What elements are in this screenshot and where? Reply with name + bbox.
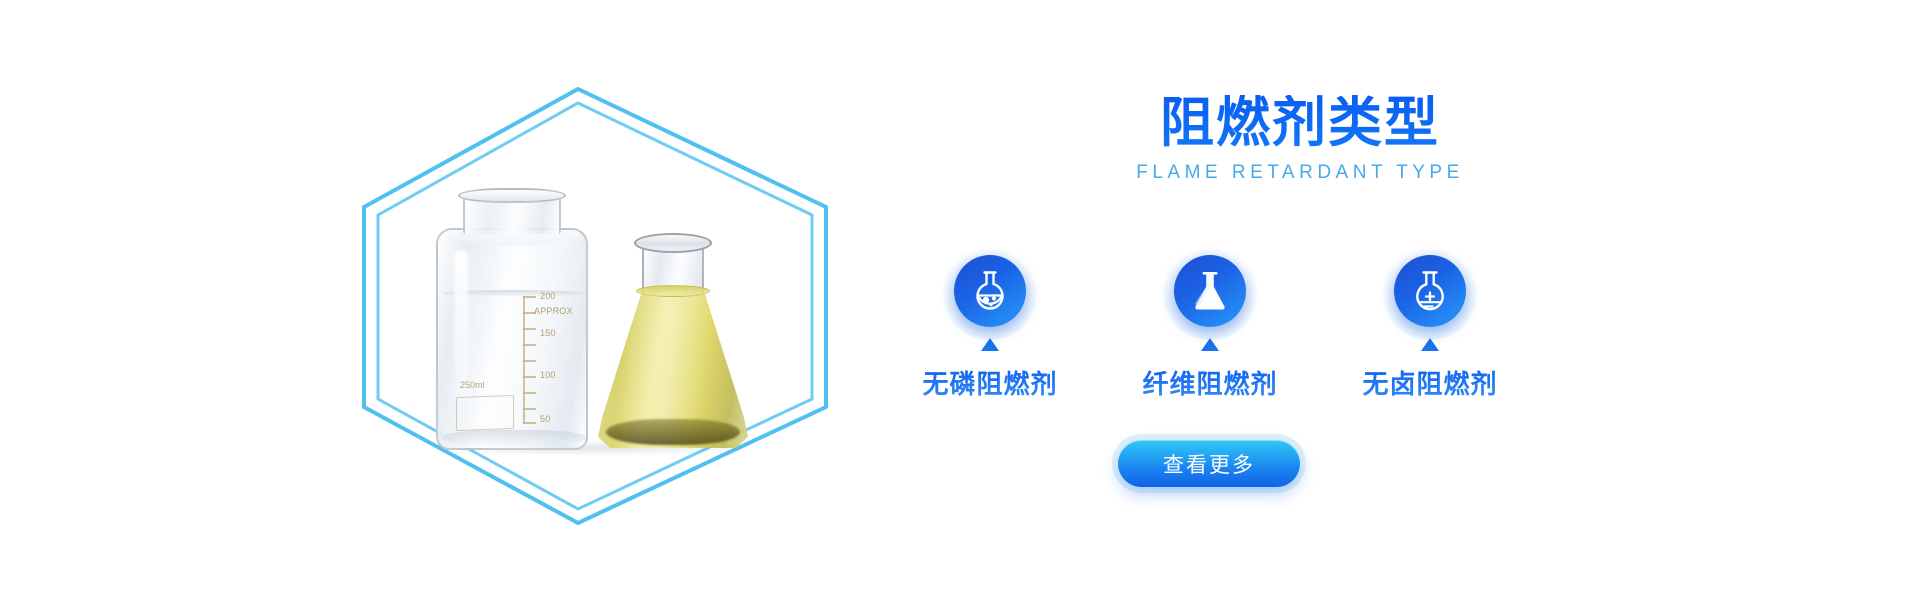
bottle-volume-text: 250ml [460, 380, 485, 390]
flask-lip [634, 233, 712, 253]
category-list: 无磷阻燃剂 纤维阻燃剂 [900, 255, 1520, 401]
graduation-label-50: 50 [540, 414, 550, 424]
page-title: 阻燃剂类型 [1040, 95, 1560, 152]
category-icon-wrap-2[interactable] [1174, 255, 1246, 327]
category-item-2[interactable]: 纤维阻燃剂 [1120, 255, 1300, 401]
bottle-graduation-scale [523, 296, 525, 424]
erlenmeyer-flask-photo [598, 233, 748, 448]
category-label-1: 无磷阻燃剂 [922, 364, 1057, 401]
bottle-base-shadow [441, 430, 587, 446]
view-more-button[interactable]: 查看更多 [1118, 440, 1300, 487]
category-label-3: 无卤阻燃剂 [1362, 364, 1497, 401]
flask-bottom-shadow [606, 419, 740, 445]
icon-circle-1[interactable] [954, 255, 1026, 327]
reagent-bottle: 200 APPROX 150 100 50 250ml [436, 192, 588, 450]
icon-circle-3[interactable] [1394, 255, 1466, 327]
cta-wrap: 查看更多 [1118, 440, 1300, 487]
category-icon-wrap-3[interactable] [1394, 255, 1466, 327]
page-subtitle: FLAME RETARDANT TYPE [1040, 162, 1560, 184]
round-flask-bubbles-icon [970, 269, 1010, 313]
product-photo: 200 APPROX 150 100 50 250ml [390, 150, 790, 450]
graduation-label-100: 100 [540, 370, 556, 380]
graduation-label-200: 200 [540, 291, 556, 301]
category-label-2: 纤维阻燃剂 [1142, 364, 1277, 401]
bottle-body: 200 APPROX 150 100 50 250ml [436, 228, 588, 450]
bottle-lip [458, 188, 566, 203]
category-icon-wrap-1[interactable] [954, 255, 1026, 327]
heading-block: 阻燃剂类型 FLAME RETARDANT TYPE [1040, 95, 1560, 184]
hero-visual: 200 APPROX 150 100 50 250ml [330, 55, 850, 545]
category-item-1[interactable]: 无磷阻燃剂 [900, 255, 1080, 401]
graduation-label-approx: APPROX [534, 306, 573, 316]
flame-retardant-banner: 200 APPROX 150 100 50 250ml [0, 0, 1920, 600]
bottle-blank-label [456, 395, 514, 431]
erlenmeyer-flask-filled-icon [1190, 269, 1230, 313]
icon-circle-2[interactable] [1174, 255, 1246, 327]
category-item-3[interactable]: 无卤阻燃剂 [1340, 255, 1520, 401]
flask-liquid-surface [636, 285, 710, 297]
bottle-highlight [454, 250, 468, 400]
graduation-label-150: 150 [540, 328, 556, 338]
round-flask-plus-icon [1410, 269, 1450, 313]
